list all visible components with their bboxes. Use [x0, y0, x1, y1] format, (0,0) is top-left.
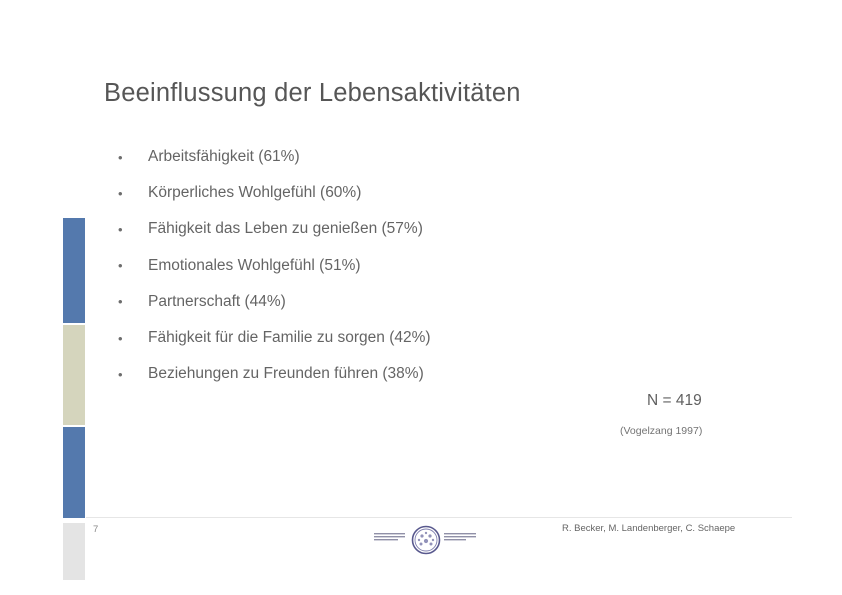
list-item-label: Fähigkeit das Leben zu genießen (57%): [148, 220, 423, 238]
bullet-dot-icon: •: [118, 151, 134, 164]
list-item-label: Beziehungen zu Freunden führen (38%): [148, 365, 424, 383]
list-item-label: Partnerschaft (44%): [148, 293, 286, 311]
list-item: • Partnerschaft (44%): [118, 284, 678, 320]
list-item: • Emotionales Wohlgefühl (51%): [118, 248, 678, 284]
list-item: • Körperliches Wohlgefühl (60%): [118, 175, 678, 211]
list-item: • Beziehungen zu Freunden führen (38%): [118, 356, 678, 392]
footer-divider: [86, 517, 792, 518]
bullet-dot-icon: •: [118, 223, 134, 236]
bullet-list: • Arbeitsfähigkeit (61%) • Körperliches …: [118, 139, 678, 392]
list-item: • Arbeitsfähigkeit (61%): [118, 139, 678, 175]
university-seal-icon: [372, 524, 480, 570]
list-item-label: Emotionales Wohlgefühl (51%): [148, 257, 361, 275]
list-item-label: Fähigkeit für die Familie zu sorgen (42%…: [148, 329, 431, 347]
source-citation: (Vogelzang 1997): [620, 425, 702, 437]
university-logo: [372, 524, 480, 570]
list-item: • Fähigkeit für die Familie zu sorgen (4…: [118, 320, 678, 356]
list-item-label: Körperliches Wohlgefühl (60%): [148, 184, 361, 202]
bullet-dot-icon: •: [118, 259, 134, 272]
bullet-dot-icon: •: [118, 332, 134, 345]
accent-bar-blue-bottom: [63, 427, 85, 518]
slide-title: Beeinflussung der Lebensaktivitäten: [104, 79, 521, 108]
bullet-dot-icon: •: [118, 368, 134, 381]
presentation-slide: Beeinflussung der Lebensaktivitäten • Ar…: [0, 0, 842, 595]
list-item: • Fähigkeit das Leben zu genießen (57%): [118, 211, 678, 247]
page-number: 7: [93, 524, 98, 535]
sample-size-label: N = 419: [647, 392, 702, 410]
accent-bar-blue-top: [63, 218, 85, 323]
bullet-dot-icon: •: [118, 187, 134, 200]
list-item-label: Arbeitsfähigkeit (61%): [148, 148, 300, 166]
accent-bar-gray: [63, 523, 85, 580]
bullet-dot-icon: •: [118, 295, 134, 308]
accent-bar-beige: [63, 325, 85, 425]
author-credits: R. Becker, M. Landenberger, C. Schaepe: [562, 523, 735, 534]
